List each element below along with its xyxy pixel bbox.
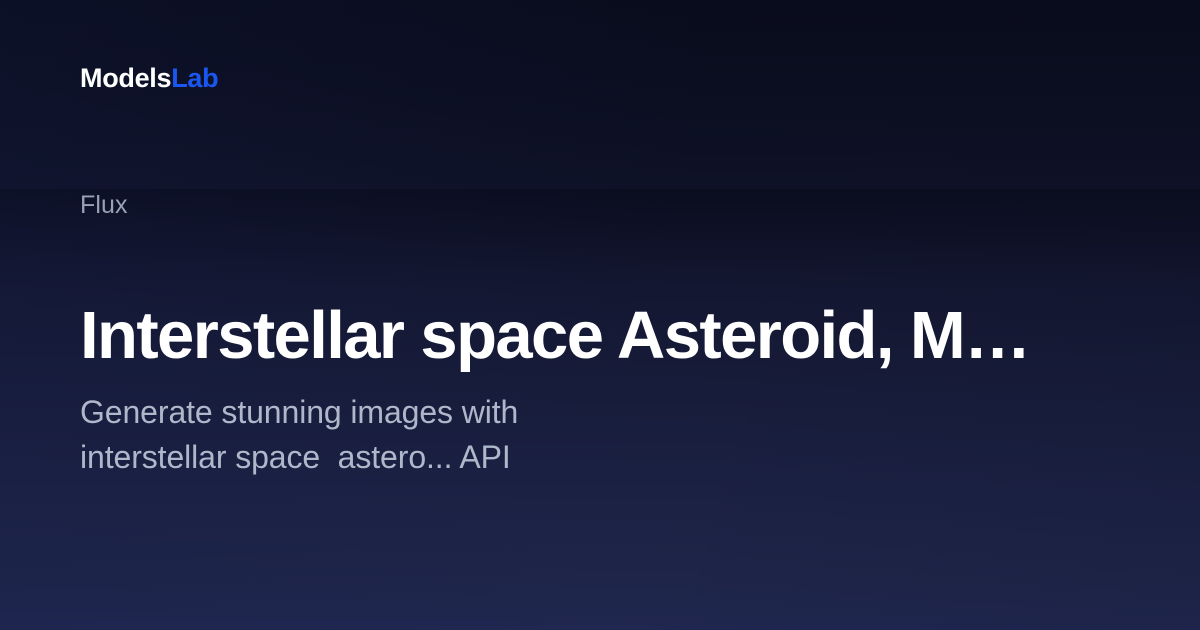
page-title: Interstellar space Asteroid, M…	[80, 297, 1110, 375]
page-subtitle: Generate stunning images with interstell…	[80, 390, 700, 480]
model-name-label: Flux	[80, 190, 128, 220]
brand-logo[interactable]: ModelsLab	[80, 62, 218, 94]
brand-logo-primary: Models	[80, 63, 171, 93]
brand-logo-accent: Lab	[171, 63, 218, 93]
og-share-card: ModelsLab Flux Interstellar space Astero…	[0, 0, 1200, 630]
